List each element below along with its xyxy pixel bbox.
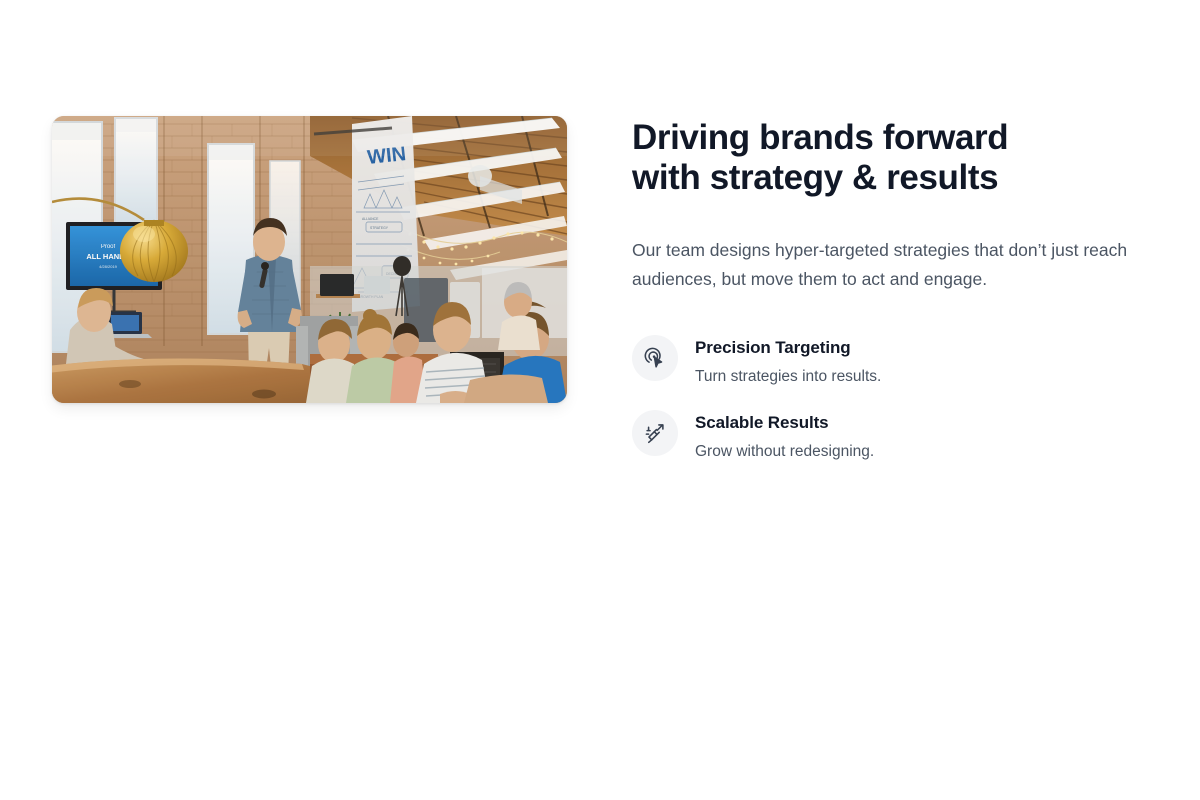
section-headline: Driving brands forward with strategy & r… xyxy=(632,118,1132,198)
headline-line-2: with strategy & results xyxy=(632,158,1132,198)
feature-text-block: Precision Targeting Turn strategies into… xyxy=(695,334,881,387)
hero-two-column-layout: WIN ALLIANCE STRATEGY DECIS xyxy=(52,116,1148,462)
feature-description: Turn strategies into results. xyxy=(695,366,881,387)
feature-item-scalable-results: Scalable Results Grow without redesignin… xyxy=(632,409,1148,462)
media-column: WIN ALLIANCE STRATEGY DECIS xyxy=(52,116,567,403)
feature-description: Grow without redesigning. xyxy=(695,441,874,462)
feature-title: Precision Targeting xyxy=(695,337,881,359)
feature-title: Scalable Results xyxy=(695,412,874,434)
headline-line-1: Driving brands forward xyxy=(632,118,1132,158)
copy-column: Driving brands forward with strategy & r… xyxy=(632,116,1148,462)
section-subcopy: Our team designs hyper-targeted strategi… xyxy=(632,236,1148,294)
feature-item-precision-targeting: Precision Targeting Turn strategies into… xyxy=(632,334,1148,387)
feature-list: Precision Targeting Turn strategies into… xyxy=(632,334,1148,462)
landing-page-section: WIN ALLIANCE STRATEGY DECIS xyxy=(0,0,1200,800)
feature-text-block: Scalable Results Grow without redesignin… xyxy=(695,409,874,462)
rocket-launch-arrow-icon xyxy=(632,410,678,456)
office-presentation-photo: WIN ALLIANCE STRATEGY DECIS xyxy=(52,116,567,403)
tap-click-icon xyxy=(632,335,678,381)
